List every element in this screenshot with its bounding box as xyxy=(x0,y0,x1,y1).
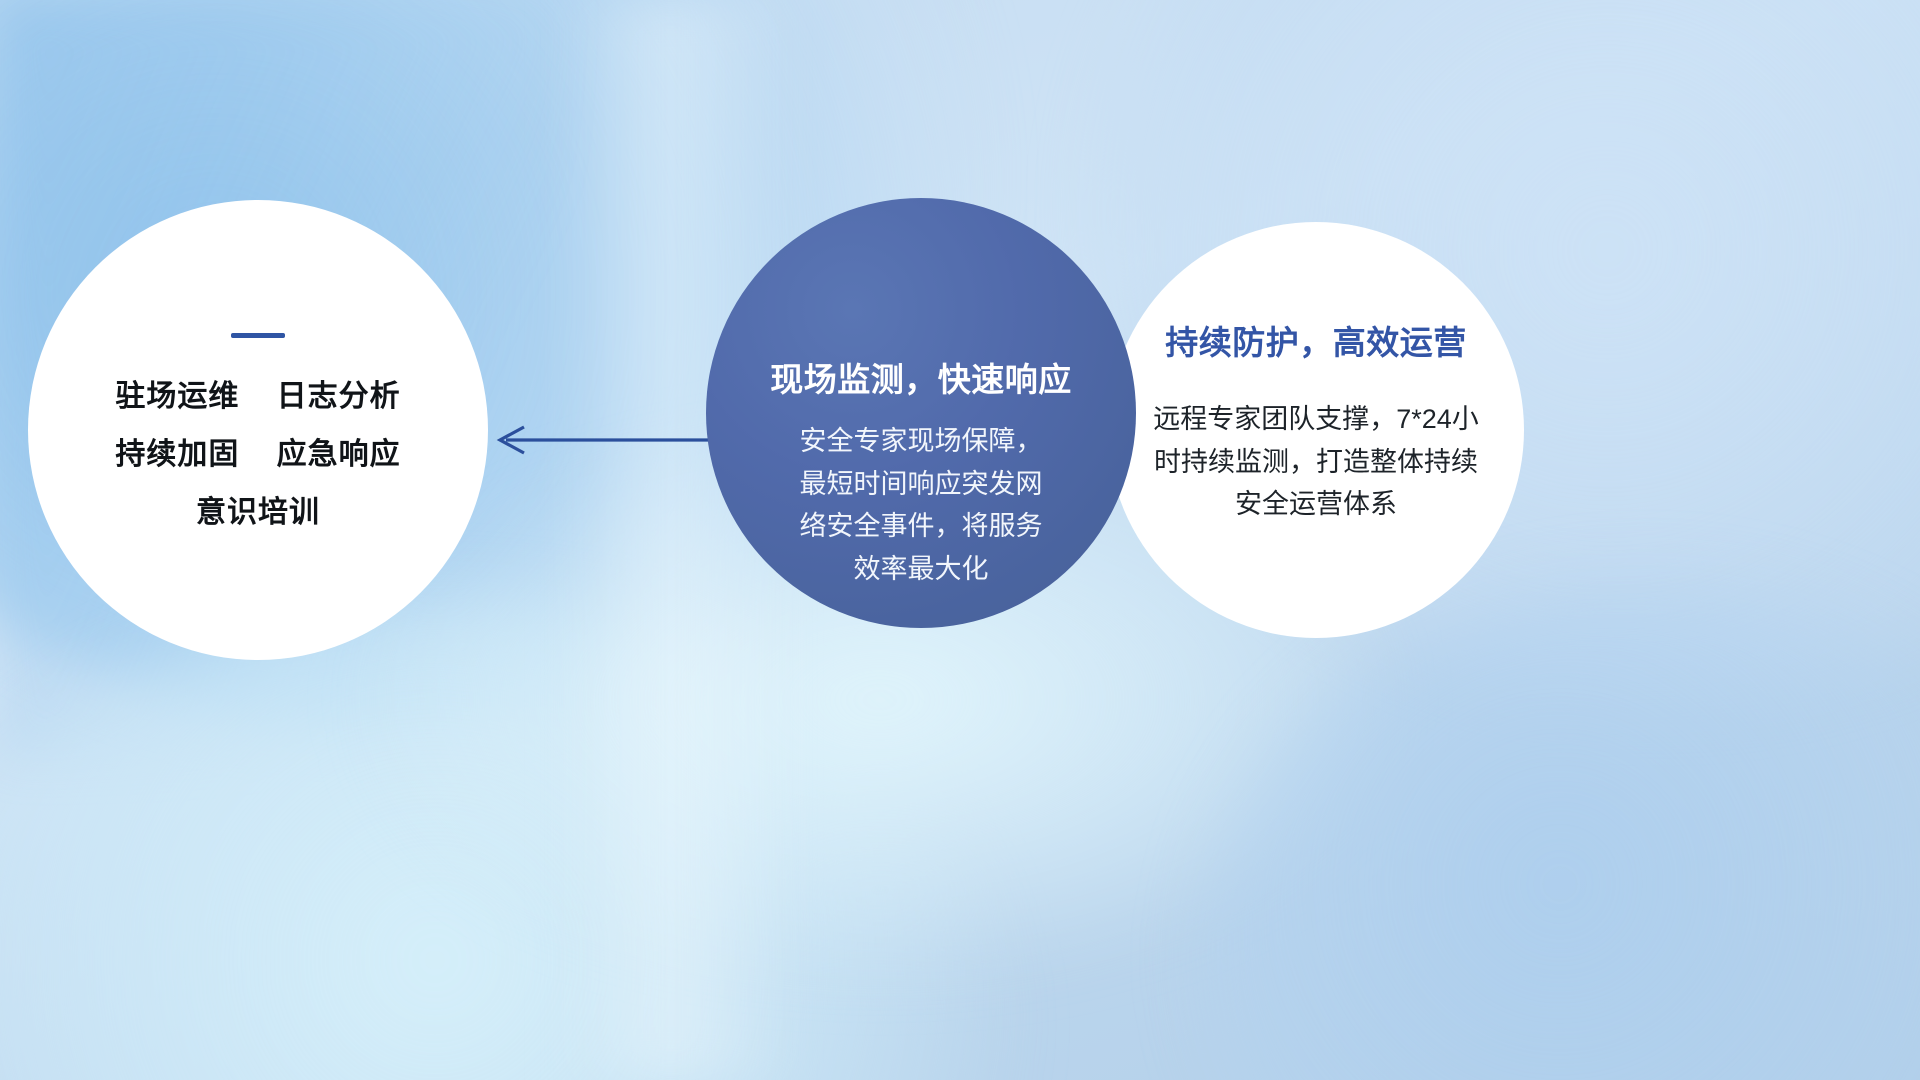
list-item: 意识培训 xyxy=(115,498,400,528)
slide-canvas: 驻场运维 日志分析 持续加固 应急响应 意识培训 持续防护，高效运营 远程专家团… xyxy=(0,0,1920,1080)
middle-circle-description: 安全专家现场保障，最短时间响应突发网络安全事件，将服务效率最大化 xyxy=(787,420,1055,591)
list-item: 驻场运维 日志分析 xyxy=(115,382,400,412)
left-circle-keyword-list: 驻场运维 日志分析 持续加固 应急响应 意识培训 xyxy=(115,382,400,528)
middle-circle-title: 现场监测，快速响应 xyxy=(770,353,1072,401)
list-item: 持续加固 应急响应 xyxy=(115,440,400,470)
right-circle-title: 持续防护，高效运营 xyxy=(1165,316,1467,364)
right-service-circle[interactable]: 持续防护，高效运营 远程专家团队支撑，7*24小时持续监测，打造整体持续安全运营… xyxy=(1108,222,1524,638)
middle-service-circle[interactable]: 现场监测，快速响应 安全专家现场保障，最短时间响应突发网络安全事件，将服务效率最… xyxy=(706,198,1136,628)
left-service-circle[interactable]: 驻场运维 日志分析 持续加固 应急响应 意识培训 xyxy=(28,200,488,660)
right-circle-description: 远程专家团队支撑，7*24小时持续监测，打造整体持续安全运营体系 xyxy=(1145,398,1487,526)
flow-arrow-left xyxy=(480,418,720,462)
accent-dash-divider xyxy=(231,333,285,338)
